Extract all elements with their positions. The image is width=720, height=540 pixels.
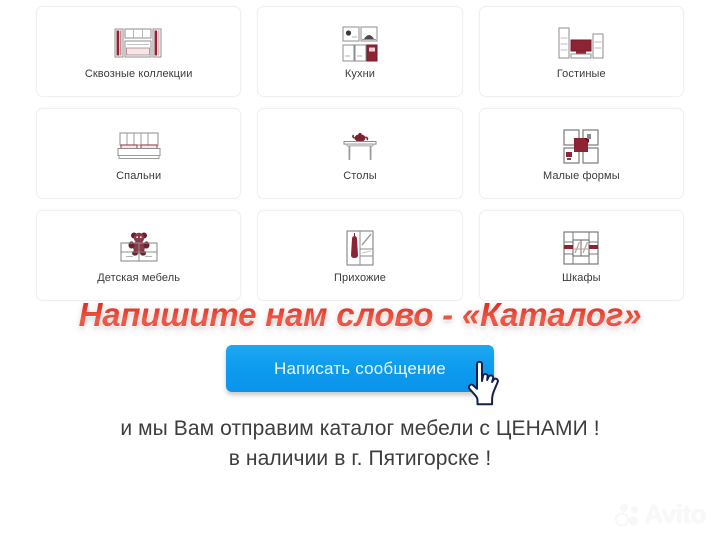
promo-subtext-line-2: в наличии в г. Пятигорске ! (0, 444, 720, 474)
category-card-gostinye[interactable]: Гостиные (479, 6, 684, 97)
category-card-kuhni[interactable]: Кухни (257, 6, 462, 97)
category-label: Сквозные коллекции (85, 68, 193, 80)
avito-logo-icon (615, 503, 641, 527)
category-card-prihozhie[interactable]: Прихожие (257, 210, 462, 301)
category-card-detskaya-mebel[interactable]: Детская мебель (36, 210, 241, 301)
wall-unit-icon (113, 24, 165, 64)
table-with-teapot-icon (341, 126, 379, 166)
avito-watermark-label: Avito (644, 499, 706, 530)
promo-page: Сквозные коллекции (0, 0, 720, 540)
category-label: Столы (343, 170, 377, 182)
promo-subtext-line-1: и мы Вам отправим каталог мебели с ЦЕНАМ… (0, 414, 720, 444)
avito-watermark: Avito (615, 499, 706, 530)
category-label: Малые формы (543, 170, 620, 182)
category-label: Спальни (116, 170, 161, 182)
category-card-sqvoznye-kollekcii[interactable]: Сквозные коллекции (36, 6, 241, 97)
promo-headline: Напишите нам слово - «Каталог» (0, 296, 720, 334)
category-card-spalni[interactable]: Спальни (36, 108, 241, 199)
category-label: Прихожие (334, 272, 386, 284)
write-message-button[interactable]: Написать сообщение (226, 345, 494, 392)
category-grid: Сквозные коллекции (36, 6, 684, 301)
category-label: Кухни (345, 68, 375, 80)
teddy-bear-dresser-icon (118, 228, 160, 268)
category-card-malye-formy[interactable]: Малые формы (479, 108, 684, 199)
hallway-wardrobe-icon (345, 228, 375, 268)
category-label: Шкафы (562, 272, 601, 284)
promo-subtext: и мы Вам отправим каталог мебели с ЦЕНАМ… (0, 414, 720, 475)
kitchen-cabinets-icon (341, 24, 379, 64)
cta-button-container: Написать сообщение (0, 345, 720, 392)
category-label: Детская мебель (97, 272, 180, 284)
bed-icon (116, 126, 162, 166)
category-card-shkafy[interactable]: Шкафы (479, 210, 684, 301)
wardrobe-mirror-icon (562, 228, 600, 268)
category-card-stoly[interactable]: Столы (257, 108, 462, 199)
living-room-wall-icon (557, 24, 605, 64)
category-label: Гостиные (557, 68, 606, 80)
small-forms-grid-icon (562, 126, 600, 166)
